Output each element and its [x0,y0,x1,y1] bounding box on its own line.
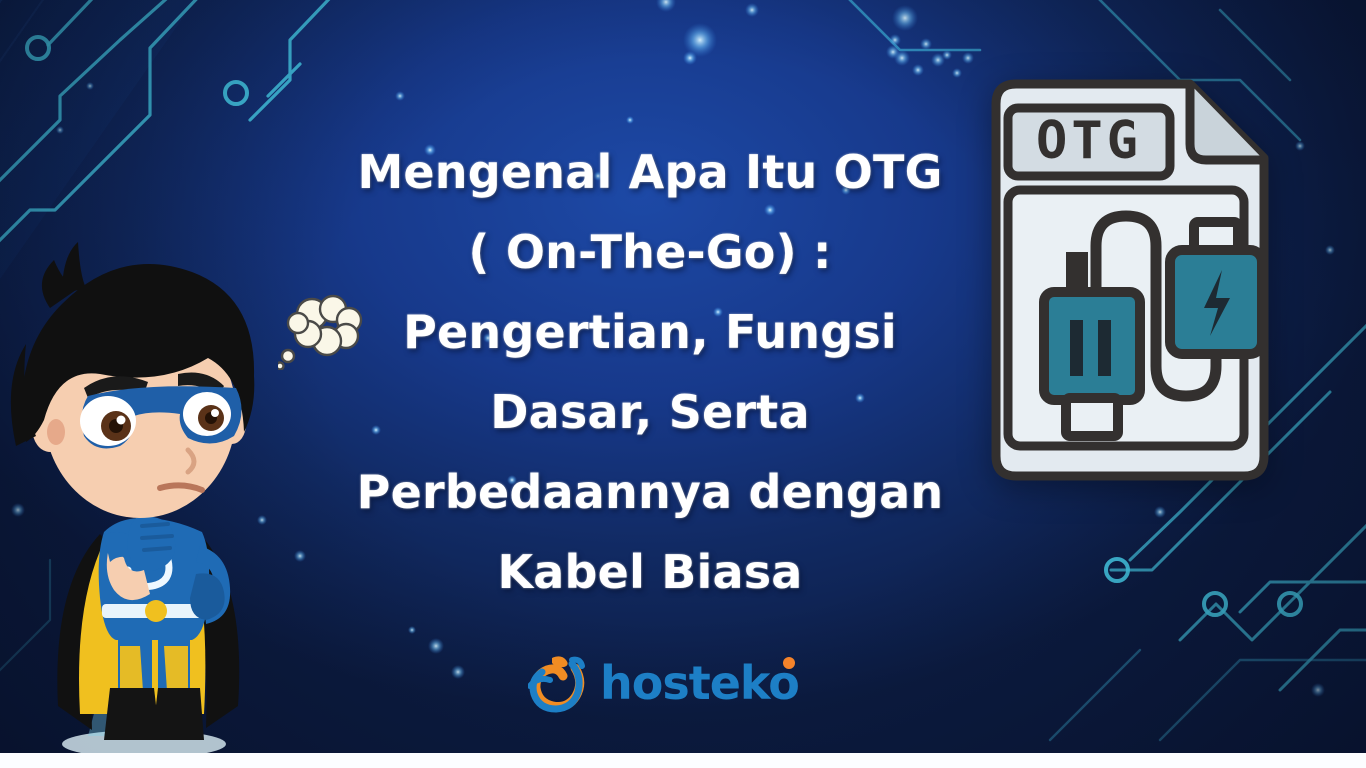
title-line-4: Dasar, Serta [300,372,1000,452]
title-line-6: Kabel Biasa [300,532,1000,612]
title-line-1: Mengenal Apa Itu OTG [300,132,1000,212]
superhero-boy-character [0,236,292,753]
hosteko-wordmark: hosteko [600,660,799,706]
boot-right [152,688,204,740]
hosteko-swirl-icon [528,652,590,714]
hosteko-wordmark-text: hosteko [600,656,799,710]
hair-spike-2 [62,242,86,294]
hosteko-logo[interactable]: hosteko [528,652,799,714]
title-line-2: ( On-The-Go) : [300,212,1000,292]
otg-badge-label: OTG [1036,111,1142,171]
title-line-5: Perbedaannya dengan [300,452,1000,532]
banner-artwork: OTG [0,0,1366,753]
boot-left [104,688,160,740]
belt-buckle [145,600,167,622]
otg-file-card-illustration: OTG [978,70,1278,490]
featured-image-canvas: OTG [0,0,1366,768]
page-title: Mengenal Apa Itu OTG ( On-The-Go) : Peng… [300,132,1000,612]
title-line-3: Pengertian, Fungsi [300,292,1000,372]
bottom-white-strip [0,753,1366,768]
hosteko-accent-dot [783,657,795,669]
